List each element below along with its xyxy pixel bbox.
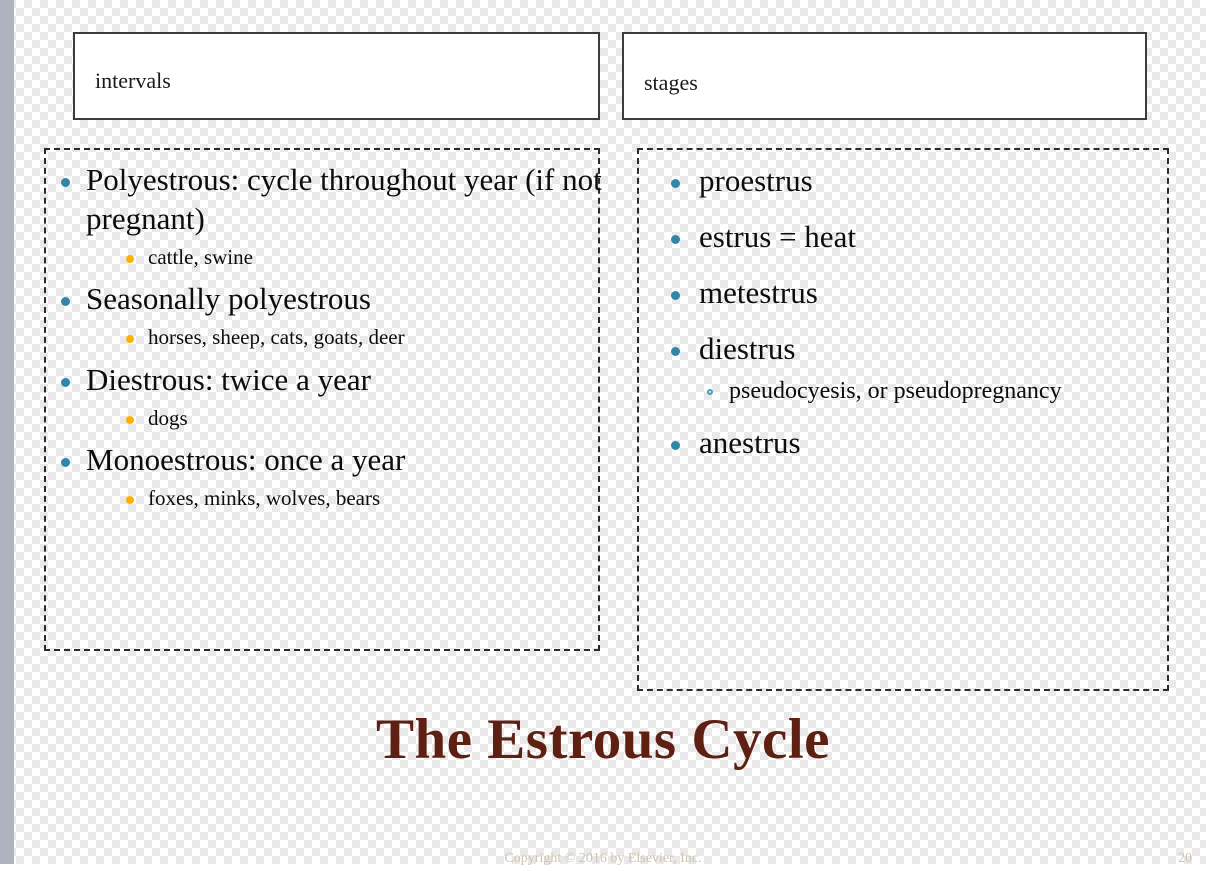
list-item: Seasonally polyestrous <box>44 279 604 318</box>
list-item-text: horses, sheep, cats, goats, deer <box>148 325 405 349</box>
list-item: metestrus <box>637 273 1177 312</box>
bullet-circle-outline-icon <box>707 389 713 395</box>
list-item: dogs <box>44 405 604 432</box>
list-item: pseudocyesis, or pseudopregnancy <box>637 377 1177 406</box>
bullet-dot-icon <box>126 335 134 343</box>
bullet-dot-icon <box>671 347 680 356</box>
list-item-text: Monoestrous: once a year <box>86 442 405 477</box>
list-item: estrus = heat <box>637 217 1177 256</box>
list-item-text: proestrus <box>699 163 813 198</box>
list-item-text: estrus = heat <box>699 219 856 254</box>
list-item: diestrus <box>637 329 1177 368</box>
list-item-text: metestrus <box>699 275 818 310</box>
bullet-list-stages: proestrus estrus = heat metestrus diestr… <box>637 161 1177 463</box>
list-item: foxes, minks, wolves, bears <box>44 485 604 512</box>
column-header-box-intervals[interactable]: intervals <box>73 32 600 120</box>
list-item-text: anestrus <box>699 425 801 460</box>
list-item: proestrus <box>637 161 1177 200</box>
list-item-text: dogs <box>148 406 188 430</box>
list-item-text: diestrus <box>699 331 795 366</box>
list-item: horses, sheep, cats, goats, deer <box>44 324 604 351</box>
column-header-label-stages: stages <box>624 57 698 95</box>
slide-title: The Estrous Cycle <box>0 707 1206 772</box>
bullet-dot-icon <box>126 496 134 504</box>
list-item: Diestrous: twice a year <box>44 360 604 399</box>
copyright-text: Copyright © 2016 by Elsevier, Inc. <box>0 851 1206 867</box>
bullet-dot-icon <box>671 179 680 188</box>
list-item-text: Polyestrous: cycle throughout year (if n… <box>86 162 602 236</box>
bullet-dot-icon <box>61 297 70 306</box>
bullet-dot-icon <box>61 178 70 187</box>
bullet-dot-icon <box>671 441 680 450</box>
list-item-text: Seasonally polyestrous <box>86 281 371 316</box>
list-item-text: pseudocyesis, or pseudopregnancy <box>729 378 1062 404</box>
list-item-text: foxes, minks, wolves, bears <box>148 486 380 510</box>
slide-canvas: intervals stages Polyestrous: cycle thro… <box>0 0 1206 864</box>
list-item-text: cattle, swine <box>148 245 253 269</box>
list-item: anestrus <box>637 423 1177 462</box>
bullet-dot-icon <box>61 378 70 387</box>
slide-footer: Copyright © 2016 by Elsevier, Inc. 20 <box>0 851 1206 871</box>
list-item: Monoestrous: once a year <box>44 440 604 479</box>
bullet-dot-icon <box>671 291 680 300</box>
bullet-dot-icon <box>671 235 680 244</box>
page-number: 20 <box>1178 851 1192 867</box>
bullet-dot-icon <box>61 458 70 467</box>
bullet-dot-icon <box>126 416 134 424</box>
column-header-box-stages[interactable]: stages <box>622 32 1147 120</box>
list-item: cattle, swine <box>44 244 604 271</box>
bullet-list-intervals: Polyestrous: cycle throughout year (if n… <box>44 160 604 520</box>
column-header-label-intervals: intervals <box>75 59 171 93</box>
bullet-dot-icon <box>126 255 134 263</box>
list-item: Polyestrous: cycle throughout year (if n… <box>44 160 604 238</box>
list-item-text: Diestrous: twice a year <box>86 362 371 397</box>
